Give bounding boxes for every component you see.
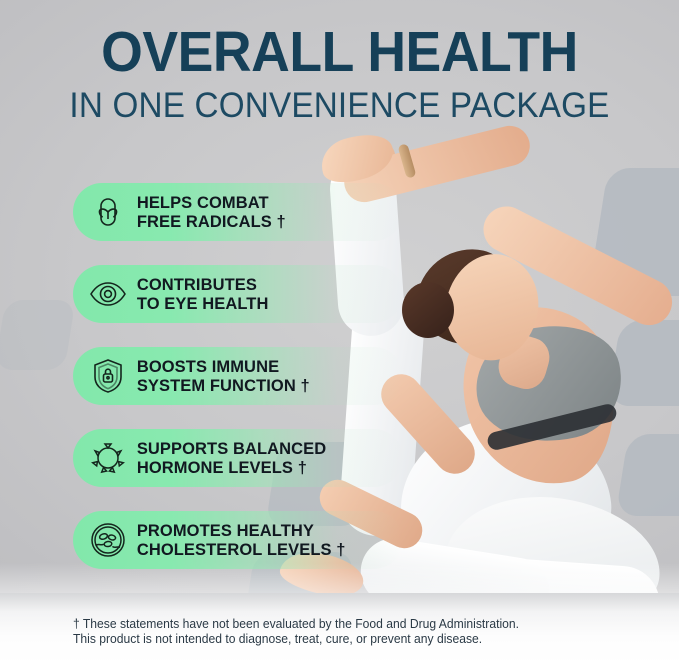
eye-icon xyxy=(85,271,131,317)
benefit-label: SUPPORTS BALANCED HORMONE LEVELS † xyxy=(131,439,326,477)
page-subtitle: IN ONE CONVENIENCE PACKAGE xyxy=(17,86,662,126)
headline-block: OVERALL HEALTH IN ONE CONVENIENCE PACKAG… xyxy=(0,22,679,126)
disclaimer-text: † These statements have not been evaluat… xyxy=(73,617,616,647)
benefit-label: PROMOTES HEALTHY CHOLESTEROL LEVELS † xyxy=(131,521,346,559)
benefit-label: HELPS COMBAT FREE RADICALS † xyxy=(131,193,286,231)
capsule-leaf-icon xyxy=(85,189,131,235)
benefit-item-eye-health: CONTRIBUTES TO EYE HEALTH xyxy=(73,265,403,323)
benefit-item-free-radicals: HELPS COMBAT FREE RADICALS † xyxy=(73,183,403,241)
molecule-ring-icon xyxy=(85,435,131,481)
benefit-label: CONTRIBUTES TO EYE HEALTH xyxy=(131,275,268,313)
benefit-item-immune-system: BOOSTS IMMUNE SYSTEM FUNCTION † xyxy=(73,347,403,405)
cholesterol-cell-icon xyxy=(85,517,131,563)
decor-shape-7 xyxy=(0,300,76,370)
promo-image-canvas: OVERALL HEALTH IN ONE CONVENIENCE PACKAG… xyxy=(0,0,679,665)
benefits-list: HELPS COMBAT FREE RADICALS † CONTRIBUTES… xyxy=(73,183,403,593)
benefit-item-hormone-levels: SUPPORTS BALANCED HORMONE LEVELS † xyxy=(73,429,403,487)
page-title: OVERALL HEALTH xyxy=(20,22,658,82)
benefit-item-cholesterol-levels: PROMOTES HEALTHY CHOLESTEROL LEVELS † xyxy=(73,511,403,569)
shield-lock-icon xyxy=(85,353,131,399)
model-hair-bun xyxy=(402,282,454,338)
benefit-label: BOOSTS IMMUNE SYSTEM FUNCTION † xyxy=(131,357,310,395)
